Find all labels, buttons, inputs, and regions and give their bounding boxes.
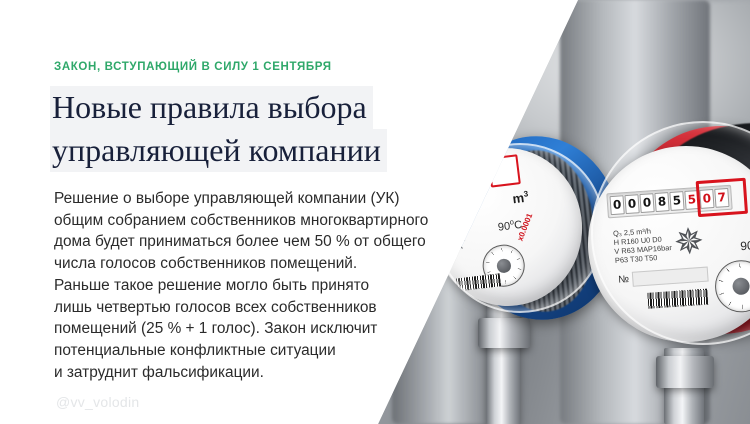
page-title: Новые правила выбора управляющей компани… <box>52 86 472 172</box>
body-line: числа голосов собственников помещений. <box>54 253 454 275</box>
body-line: и затруднит фальсификации. <box>54 362 454 384</box>
meter-left-barcode <box>456 273 501 291</box>
meter-left-unit-label: m3 <box>512 189 530 206</box>
body-line: лишь четвертью голосов всех собственнико… <box>54 297 454 319</box>
meter-right-impeller-icon: ✵ <box>673 223 706 261</box>
slide-root: m3 90oC ✵ x0.0001 0 0 0 <box>0 0 750 424</box>
body-text: Решение о выборе управляющей компании (У… <box>54 188 454 383</box>
odometer-digit-decimal: 0 <box>699 189 714 209</box>
meter-right-face: 0 0 0 8 5 5 0 7 Q₃ 2,5 m³/h H R160 U0 D0… <box>581 139 750 348</box>
odometer-digit: 0 <box>639 193 654 213</box>
odometer-digit: 0 <box>624 194 639 214</box>
water-meter-right: 0 0 0 8 5 5 0 7 Q₃ 2,5 m³/h H R160 U0 D0… <box>588 118 750 348</box>
meter-right-dial <box>713 259 750 315</box>
meter-right-serial-row: № <box>618 267 709 288</box>
meter-nut-right <box>656 356 714 388</box>
meter-right-spec-block: Q₃ 2,5 m³/h H R160 U0 D0 V R63 MAP16bar … <box>613 225 673 265</box>
body-line: Решение о выборе управляющей компании (У… <box>54 188 454 210</box>
watermark-handle: @vv_volodin <box>56 394 139 410</box>
body-line: общим собранием собственников многокварт… <box>54 210 454 232</box>
meter-right-temperature-label: 90oC <box>740 236 750 253</box>
odometer-digit: 0 <box>609 195 624 215</box>
meter-right-barcode <box>647 289 708 309</box>
serial-number-blank <box>632 267 709 287</box>
odometer-digit-decimal: 5 <box>684 190 699 210</box>
odometer-digit: 5 <box>669 191 684 211</box>
body-line: помещений (25 % + 1 голос). Закон исключ… <box>54 318 454 340</box>
body-line: потенциальные конфликтные ситуации <box>54 340 454 362</box>
headline-line-1: Новые правила выбора <box>52 86 367 129</box>
eyebrow-label: ЗАКОН, ВСТУПАЮЩИЙ В СИЛУ 1 СЕНТЯБРЯ <box>54 61 332 73</box>
meter-right-odometer: 0 0 0 8 5 5 0 7 <box>606 185 732 219</box>
meter-nut-left <box>478 318 530 348</box>
serial-number-label: № <box>618 274 629 286</box>
body-line: дома будет приниматься более чем 50 % от… <box>54 231 454 253</box>
odometer-digit: 8 <box>654 192 669 212</box>
body-line: Раньше такое решение могло быть принято <box>54 275 454 297</box>
odometer-digit-decimal: 7 <box>714 188 729 208</box>
headline-line-2: управляющей компании <box>52 129 381 172</box>
